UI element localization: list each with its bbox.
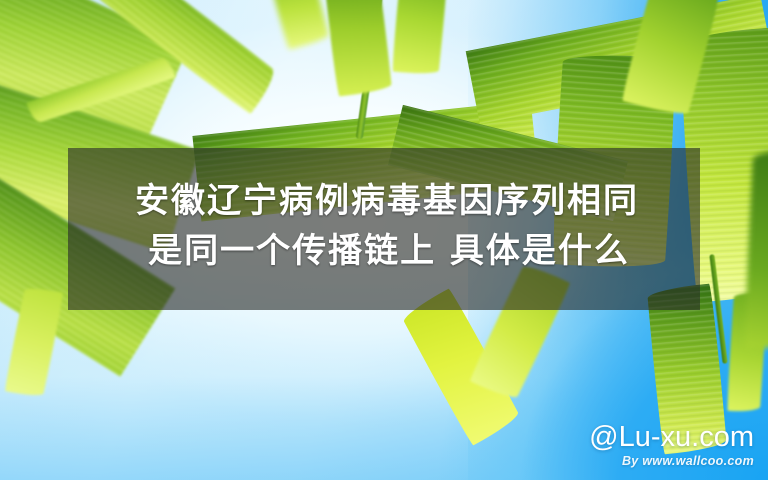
watermark-credit: By www.wallcoo.com [589,454,754,468]
image-canvas: 安徽辽宁病例病毒基因序列相同 是同一个传播链上 具体是什么 @Lu-xu.com… [0,0,768,480]
headline-line-2: 是同一个传播链上 具体是什么 [138,226,630,276]
watermark-site: @Lu-xu.com [589,423,754,452]
headline-overlay-band: 安徽辽宁病例病毒基因序列相同 是同一个传播链上 具体是什么 [68,148,700,310]
watermark: @Lu-xu.com By www.wallcoo.com [589,423,754,468]
headline-line-1: 安徽辽宁病例病毒基因序列相同 [129,176,639,226]
